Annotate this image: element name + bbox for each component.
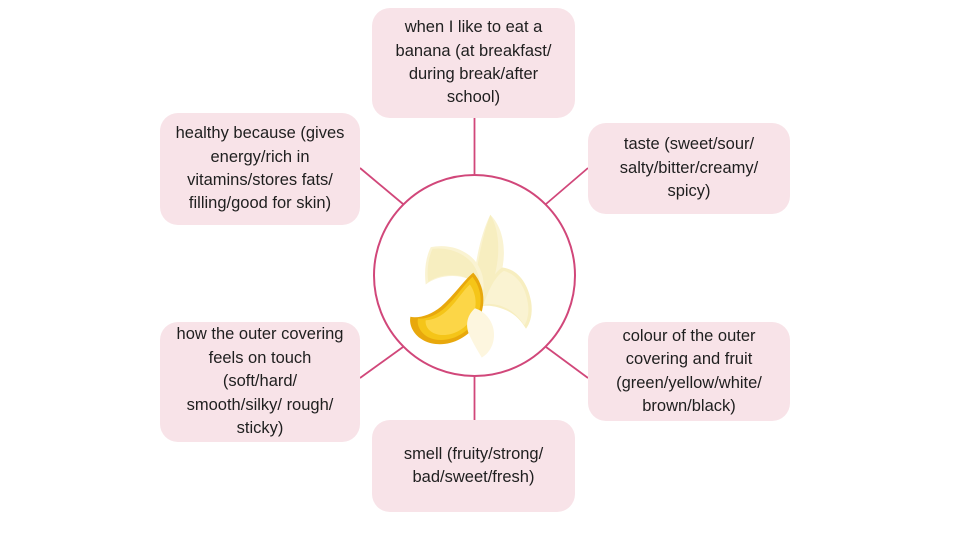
node-healthy[interactable]: healthy because (gives energy/rich in vi… <box>160 113 360 225</box>
node-eat-time[interactable]: when I like to eat a banana (at breakfas… <box>372 8 575 118</box>
mindmap-canvas: when I like to eat a banana (at breakfas… <box>0 0 960 540</box>
node-healthy-label: healthy because (gives energy/rich in vi… <box>174 122 346 216</box>
node-touch-label: how the outer covering feels on touch (s… <box>174 323 346 440</box>
node-taste-label: taste (sweet/sour/ salty/bitter/creamy/ … <box>602 133 776 203</box>
connector-line-colour <box>546 347 588 378</box>
node-taste[interactable]: taste (sweet/sour/ salty/bitter/creamy/ … <box>588 123 790 214</box>
banana-illustration <box>390 191 560 361</box>
node-smell-label: smell (fruity/strong/ bad/sweet/fresh) <box>386 443 561 490</box>
node-colour[interactable]: colour of the outer covering and fruit (… <box>588 322 790 421</box>
connector-line-touch <box>360 347 403 378</box>
node-touch[interactable]: how the outer covering feels on touch (s… <box>160 322 360 442</box>
node-smell[interactable]: smell (fruity/strong/ bad/sweet/fresh) <box>372 420 575 512</box>
connector-line-healthy <box>360 168 403 204</box>
node-eat-time-label: when I like to eat a banana (at breakfas… <box>386 16 561 110</box>
node-colour-label: colour of the outer covering and fruit (… <box>602 325 776 419</box>
connector-line-taste <box>546 168 588 204</box>
center-circle <box>373 174 576 377</box>
